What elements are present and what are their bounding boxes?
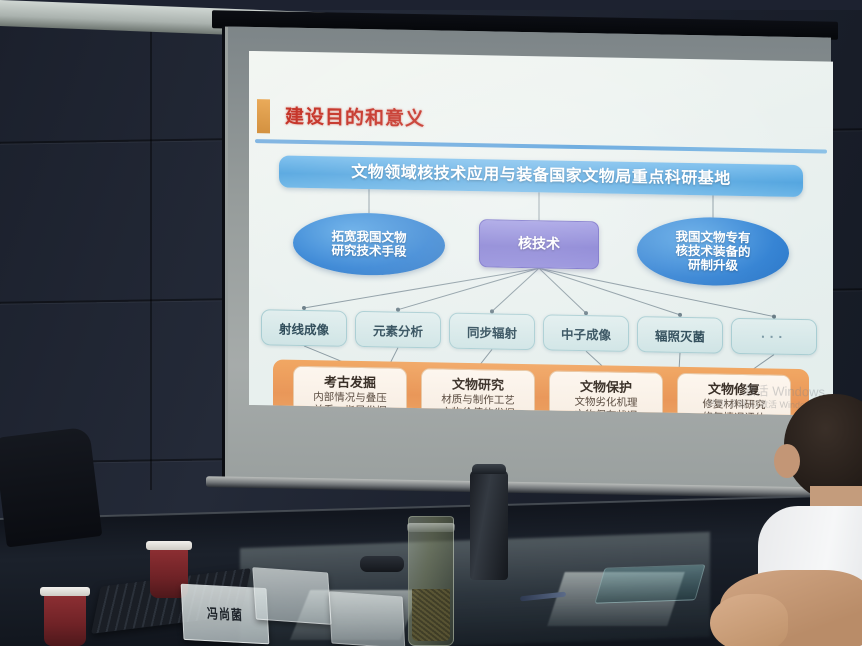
technique-box-ellipsis: ··· xyxy=(731,318,817,356)
tablet-device[interactable] xyxy=(594,564,705,603)
application-title: 文物研究 xyxy=(452,374,504,394)
name-placard xyxy=(252,567,331,625)
placard-text: 冯尚菌 xyxy=(207,603,244,625)
projected-slide: 建设目的和意义 xyxy=(249,51,833,416)
screen-frame: 建设目的和意义 xyxy=(222,26,830,489)
paper-cup xyxy=(44,594,86,646)
page-title: 建设目的和意义 xyxy=(285,102,425,132)
technique-box-4: 辐照灭菌 xyxy=(637,316,723,354)
seated-person xyxy=(740,394,862,646)
technique-box-2: 同步辐射 xyxy=(449,313,535,351)
goal-left-line2: 研究技术手段 xyxy=(331,243,406,258)
title-accent-bar xyxy=(257,99,270,133)
jar-ring xyxy=(407,523,455,532)
root-node: 文物领域核技术应用与装备国家文物局重点科研基地 xyxy=(279,155,803,197)
application-title: 考古发掘 xyxy=(324,372,376,392)
application-line1: 文物劣化机理 xyxy=(575,396,638,410)
goal-right-line2: 核技术装备的 xyxy=(675,244,750,259)
application-title: 文物保护 xyxy=(580,376,632,396)
goal-node-left: 拓宽我国文物 研究技术手段 xyxy=(293,212,445,277)
technique-box-0: 射线成像 xyxy=(261,309,347,347)
technique-box-3: 中子成像 xyxy=(543,314,629,352)
person-hand xyxy=(710,594,788,646)
cup-lid xyxy=(40,587,90,596)
person-ear xyxy=(774,444,800,478)
slide-title-row: 建设目的和意义 xyxy=(249,99,833,146)
core-technology-node: 核技术 xyxy=(479,219,599,269)
technique-box-1: 元素分析 xyxy=(355,311,441,349)
conference-room-scene: 建设目的和意义 xyxy=(0,0,862,646)
goal-right-line3: 研制升级 xyxy=(675,258,750,273)
name-placard xyxy=(329,591,406,646)
application-card-2: 文物保护 文物劣化机理 文物保存状况 xyxy=(549,370,663,415)
goal-right-line1: 我国文物专有 xyxy=(675,230,750,245)
thermos-cap xyxy=(472,464,506,474)
tea-leaves xyxy=(412,589,450,641)
black-thermos xyxy=(470,470,508,580)
goal-node-right: 我国文物专有 核技术装备的 研制升级 xyxy=(637,216,789,287)
glass-tea-jar xyxy=(408,516,454,646)
conference-microphone[interactable] xyxy=(360,556,404,572)
office-chair xyxy=(0,427,102,548)
wall-seam-vertical xyxy=(150,10,152,490)
cup-lid xyxy=(146,541,192,550)
goal-left-line1: 拓宽我国文物 xyxy=(331,229,406,244)
